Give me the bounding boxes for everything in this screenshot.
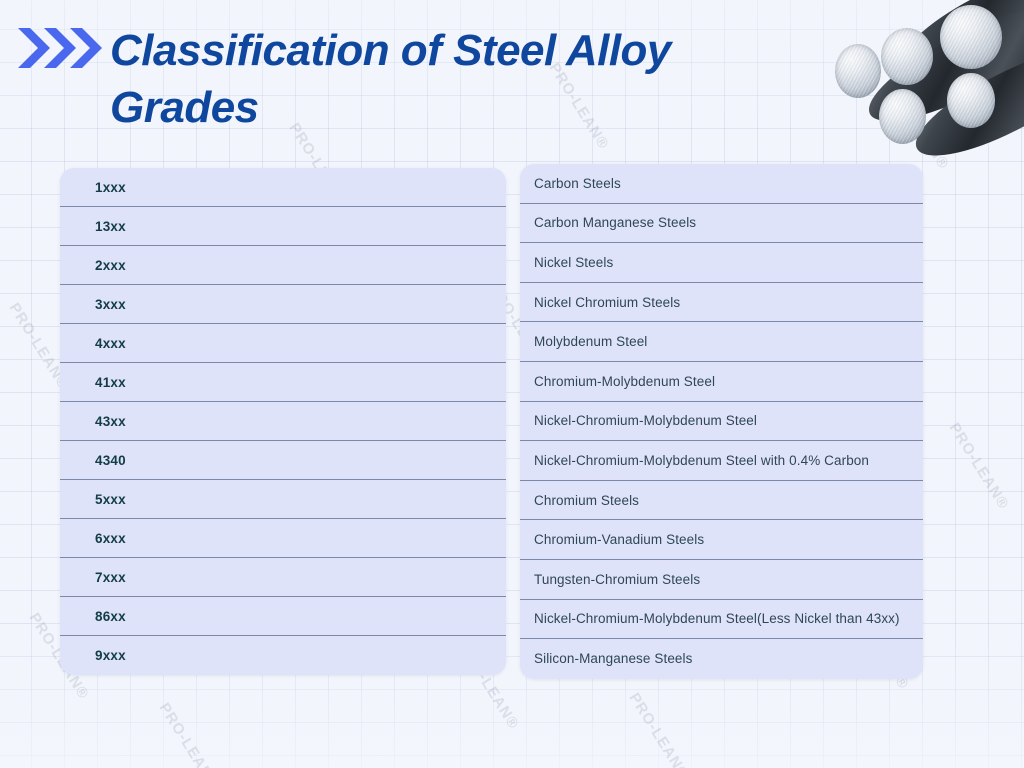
table-row: Chromium-Vanadium Steels	[520, 520, 923, 560]
table-row: 6xxx	[60, 519, 506, 558]
table-row: 4340	[60, 441, 506, 480]
table-row: 4xxx	[60, 324, 506, 363]
grade-code: 13xx	[95, 219, 126, 234]
table-row: 1xxx	[60, 168, 506, 207]
table-row: Chromium Steels	[520, 481, 923, 521]
table-row: Carbon Manganese Steels	[520, 204, 923, 244]
table-row: 9xxx	[60, 636, 506, 675]
grade-code: 9xxx	[95, 648, 126, 663]
table-row: 3xxx	[60, 285, 506, 324]
grade-description: Chromium-Vanadium Steels	[534, 532, 704, 547]
grade-code: 41xx	[95, 375, 126, 390]
steel-round-bars-photo	[828, 0, 1024, 158]
grade-code: 5xxx	[95, 492, 126, 507]
grade-description: Carbon Manganese Steels	[534, 215, 696, 230]
table-row: 41xx	[60, 363, 506, 402]
grade-description: Nickel Chromium Steels	[534, 295, 680, 310]
table-row: Nickel-Chromium-Molybdenum Steel(Less Ni…	[520, 600, 923, 640]
grade-code: 3xxx	[95, 297, 126, 312]
table-row: 7xxx	[60, 558, 506, 597]
grade-description: Nickel Steels	[534, 255, 613, 270]
grade-code: 4340	[95, 453, 126, 468]
table-row: 86xx	[60, 597, 506, 636]
grade-description: Silicon-Manganese Steels	[534, 651, 693, 666]
grade-description: Chromium Steels	[534, 493, 639, 508]
grade-code: 7xxx	[95, 570, 126, 585]
grade-description: Tungsten-Chromium Steels	[534, 572, 700, 587]
grade-description: Nickel-Chromium-Molybdenum Steel(Less Ni…	[534, 611, 900, 626]
table-row: Carbon Steels	[520, 164, 923, 204]
page-title: Classification of Steel Alloy Grades	[110, 22, 720, 136]
table-row: Nickel Steels	[520, 243, 923, 283]
grade-description: Nickel-Chromium-Molybdenum Steel	[534, 413, 757, 428]
grade-description: Chromium-Molybdenum Steel	[534, 374, 715, 389]
grade-code-panel: 1xxx13xx2xxx3xxx4xxx41xx43xx43405xxx6xxx…	[60, 168, 506, 675]
grade-description: Nickel-Chromium-Molybdenum Steel with 0.…	[534, 453, 869, 468]
grade-code: 1xxx	[95, 180, 126, 195]
table-row: 43xx	[60, 402, 506, 441]
grade-description: Molybdenum Steel	[534, 334, 647, 349]
table-row: 13xx	[60, 207, 506, 246]
table-row: Silicon-Manganese Steels	[520, 639, 923, 679]
table-row: Nickel-Chromium-Molybdenum Steel with 0.…	[520, 441, 923, 481]
infographic-page: PRO-LEAN®PRO-LEAN®PRO-LEAN®PRO-LEAN®PRO-…	[0, 0, 1024, 768]
grade-code: 4xxx	[95, 336, 126, 351]
grade-description: Carbon Steels	[534, 176, 621, 191]
table-row: Tungsten-Chromium Steels	[520, 560, 923, 600]
table-row: Nickel Chromium Steels	[520, 283, 923, 323]
grade-code: 86xx	[95, 609, 126, 624]
table-row: 2xxx	[60, 246, 506, 285]
table-row: Molybdenum Steel	[520, 322, 923, 362]
grade-code: 43xx	[95, 414, 126, 429]
table-row: Nickel-Chromium-Molybdenum Steel	[520, 402, 923, 442]
grade-code: 6xxx	[95, 531, 126, 546]
grade-code: 2xxx	[95, 258, 126, 273]
table-row: 5xxx	[60, 480, 506, 519]
grade-description-panel: Carbon SteelsCarbon Manganese SteelsNick…	[520, 164, 923, 679]
table-row: Chromium-Molybdenum Steel	[520, 362, 923, 402]
header: Classification of Steel Alloy Grades	[0, 0, 1024, 160]
triple-chevron-right-icon	[16, 26, 106, 70]
